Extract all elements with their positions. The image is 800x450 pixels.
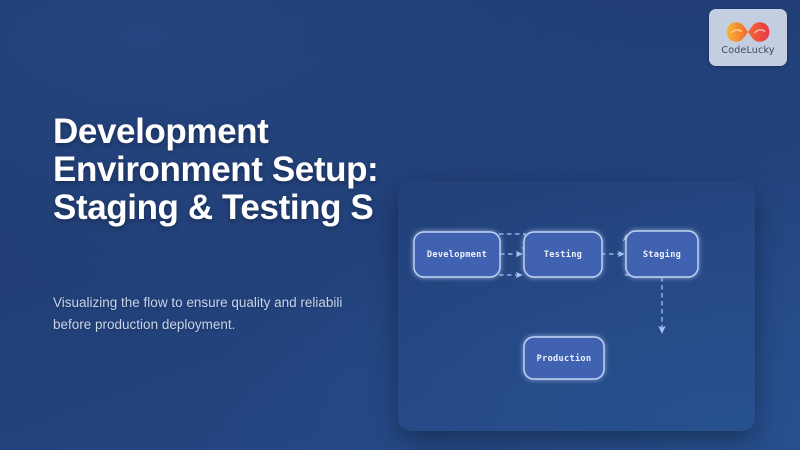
brand-logo-badge[interactable]: CodeLucky (709, 9, 787, 66)
node-development[interactable]: Development (414, 232, 500, 277)
node-testing-label: Testing (544, 249, 582, 260)
page-subtitle: Visualizing the flow to ensure quality a… (53, 292, 443, 336)
node-production[interactable]: Production (524, 337, 604, 379)
node-development-label: Development (427, 250, 487, 260)
flowchart-svg: Development Testing Staging Production (398, 181, 755, 431)
slide-canvas: CodeLucky Development Environment Setup:… (0, 0, 800, 450)
edge-development-testing-top (499, 234, 525, 253)
node-production-label: Production (537, 353, 592, 364)
node-testing[interactable]: Testing (524, 232, 602, 277)
brand-name-label: CodeLucky (721, 46, 774, 56)
infinity-loop-icon (725, 19, 771, 45)
node-staging[interactable]: Staging (626, 231, 698, 277)
flowchart-panel: Development Testing Staging Production (398, 181, 755, 431)
node-staging-label: Staging (643, 249, 681, 260)
